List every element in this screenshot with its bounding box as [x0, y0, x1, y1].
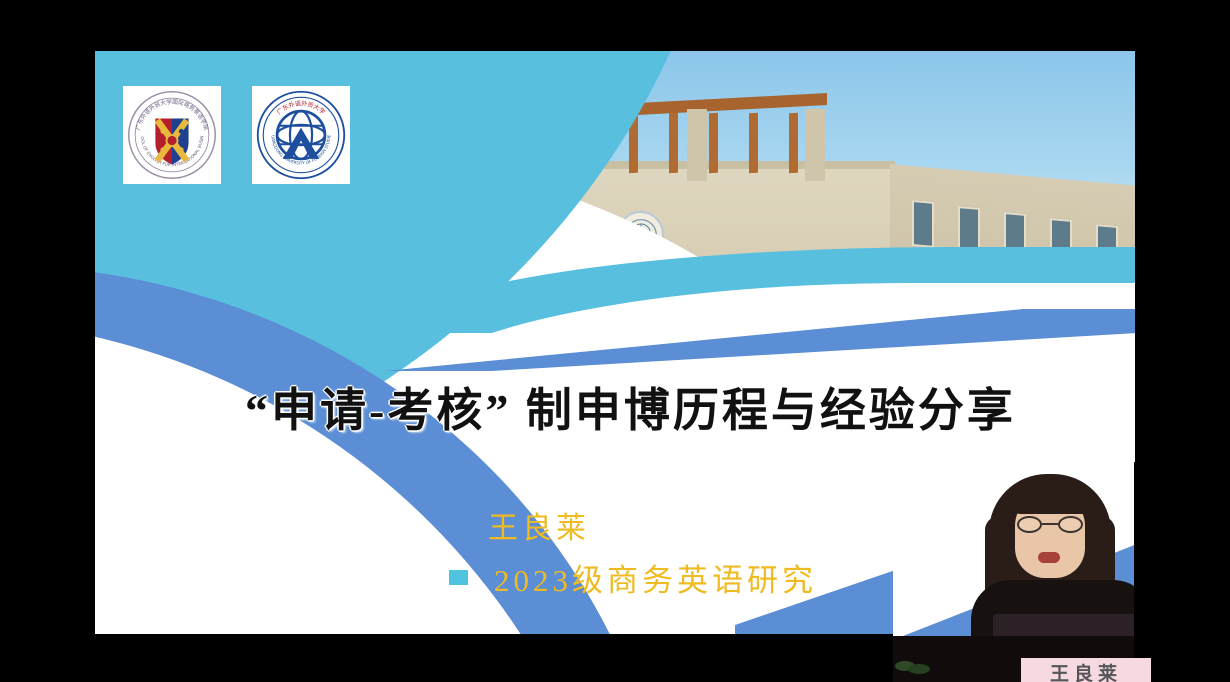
- video-recording-stage: 广东外语外贸大学 GUANGDONG UNIVERSITY OF FOREIGN…: [0, 0, 1230, 682]
- presenter-mouth: [1038, 552, 1060, 563]
- presenter-overlay-dark-edge: [1134, 462, 1230, 682]
- presenter-bangs: [1011, 484, 1091, 514]
- subtitle-program: 2023级商务英语研究: [494, 555, 817, 600]
- bullet-square-cyan: [449, 570, 468, 585]
- presenter-video-overlay: 王良莱: [893, 462, 1230, 682]
- presenter-glasses-icon: [1017, 516, 1083, 533]
- subtitle-presenter-name: 王良莱: [488, 503, 590, 547]
- presenter-name-card: 王良莱: [1021, 658, 1151, 682]
- slide-title: “申请-考核” 制申博历程与经验分享: [245, 374, 1135, 440]
- logo-gdufs-school-of-interpreting-and-translation: 广东外语外贸大学国际商务英语学院 SCHOOL OF ENGLISH FOR I…: [123, 86, 221, 184]
- logo-guangdong-university-of-foreign-studies: 广东外语外贸大学 GUANGDONG UNIVERSITY OF FOREIGN…: [252, 86, 350, 184]
- desk-plant: [895, 652, 935, 674]
- bullet-square-blue: [443, 518, 462, 533]
- presenter-name-card-text: 王良莱: [1050, 659, 1122, 682]
